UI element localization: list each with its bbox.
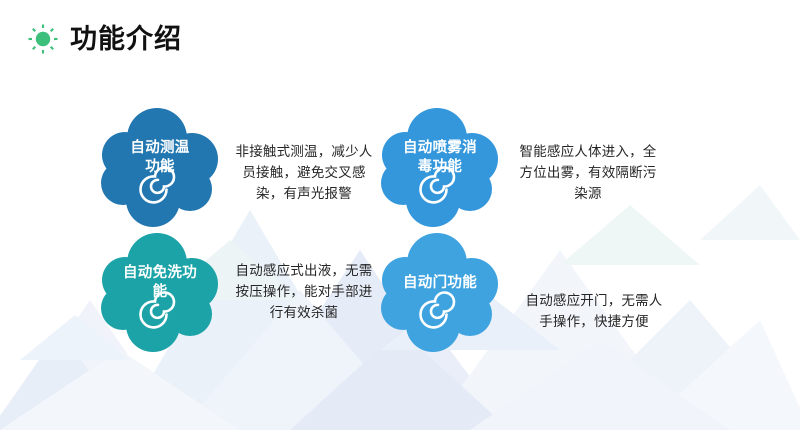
feature-label-line: 自动测温	[103, 139, 217, 158]
feature-label-2: 自动免洗功 能	[103, 264, 217, 302]
feature-cloud-1: 自动喷雾消 毒功能	[375, 105, 505, 230]
slide-header: 功能介绍	[26, 22, 182, 56]
feature-label-line: 自动免洗功	[103, 264, 217, 283]
feature-label-line: 自动喷雾消	[383, 139, 497, 158]
feature-item-1[interactable]: 自动喷雾消 毒功能 智能感应人体进入，全方位出雾，有效隔断污染源	[375, 105, 659, 230]
feature-cloud-2: 自动免洗功 能	[95, 230, 225, 355]
feature-cloud-0: 自动测温 功能	[95, 105, 225, 230]
sun-icon	[26, 22, 60, 56]
feature-description-3: 自动感应开门，无需人手操作，快捷方便	[519, 290, 669, 332]
feature-item-2[interactable]: 自动免洗功 能 自动感应式出液，无需按压操作，能对手部进行有效杀菌	[95, 230, 375, 355]
feature-item-3[interactable]: 自动门功能 自动感应开门，无需人手操作，快捷方便	[375, 230, 669, 355]
feature-label-1: 自动喷雾消 毒功能	[383, 139, 497, 177]
feature-label-line: 毒功能	[383, 158, 497, 177]
feature-item-0[interactable]: 自动测温 功能 非接触式测温，减少人员接触，避免交叉感染，有声光报警	[95, 105, 375, 230]
page-title: 功能介绍	[70, 26, 182, 53]
slide-canvas: 功能介绍 自动测温 功能 非接触式	[0, 0, 800, 430]
feature-cloud-3: 自动门功能	[375, 230, 505, 355]
feature-label-line: 自动门功能	[383, 274, 497, 293]
feature-label-0: 自动测温 功能	[103, 139, 217, 177]
feature-description-2: 自动感应式出液，无需按压操作，能对手部进行有效杀菌	[233, 260, 375, 323]
feature-description-1: 智能感应人体进入，全方位出雾，有效隔断污染源	[517, 141, 659, 204]
feature-label-3: 自动门功能	[383, 274, 497, 293]
feature-description-0: 非接触式测温，减少人员接触，避免交叉感染，有声光报警	[233, 141, 375, 204]
feature-label-line: 能	[103, 283, 217, 302]
feature-label-line: 功能	[103, 158, 217, 177]
